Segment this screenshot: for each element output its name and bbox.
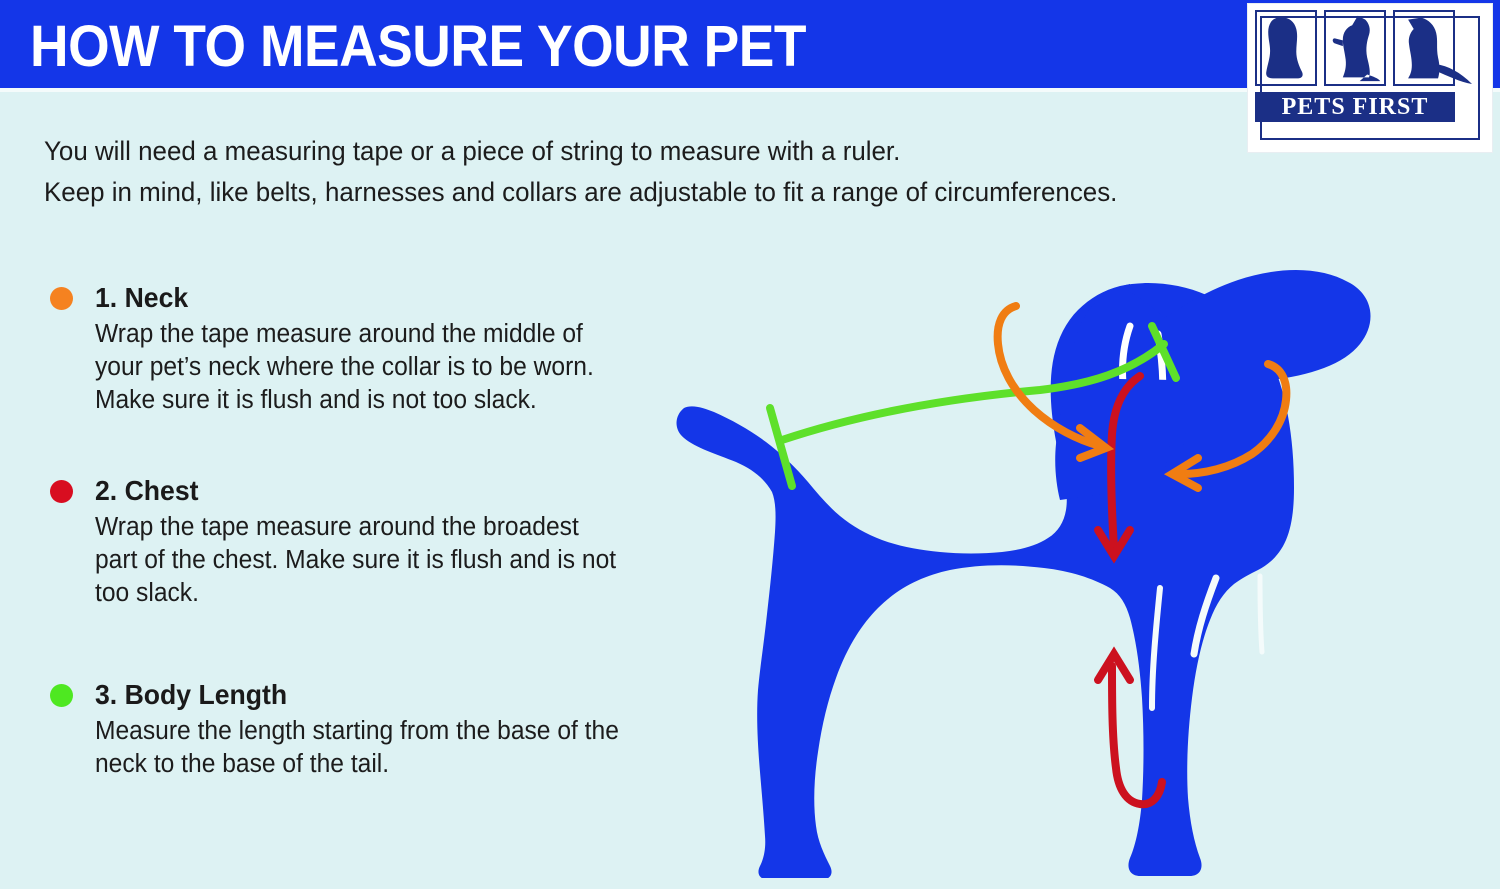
dog-diagram-svg (660, 248, 1490, 878)
step-bullet-chest (50, 480, 73, 503)
infographic-page: HOW TO MEASURE YOUR PET PETS FIRST You (0, 0, 1500, 889)
dog-standing-silhouette-icon (1393, 10, 1455, 86)
page-title: HOW TO MEASURE YOUR PET (30, 16, 806, 78)
step-body-line: your pet’s neck where the collar is to b… (95, 351, 655, 384)
step-body-body-length: Measure the length starting from the bas… (95, 715, 655, 781)
step-body-line: part of the chest. Make sure it is flush… (95, 544, 655, 577)
step-body-line: too slack. (95, 577, 655, 610)
step-body-line: neck to the base of the tail. (95, 748, 655, 781)
brand-logo: PETS FIRST (1248, 4, 1492, 152)
step-body-line: Measure the length starting from the bas… (95, 715, 655, 748)
dog-measurement-diagram: BODY LENGTH NECK CHEST (660, 248, 1490, 878)
step-heading-body-length: 3. Body Length (95, 679, 287, 711)
step-body-line: Wrap the tape measure around the broades… (95, 511, 655, 544)
step-body-neck: Wrap the tape measure around the middle … (95, 318, 655, 417)
dog-begging-silhouette-icon (1324, 10, 1386, 86)
intro-text: You will need a measuring tape or a piec… (44, 131, 1282, 213)
logo-wordmark-bar: PETS FIRST (1255, 92, 1455, 122)
step-bullet-neck (50, 287, 73, 310)
step-heading-chest: 2. Chest (95, 475, 198, 507)
intro-line-1: You will need a measuring tape or a piec… (44, 131, 1282, 172)
step-body-line: Wrap the tape measure around the middle … (95, 318, 655, 351)
step-bullet-body-length (50, 684, 73, 707)
step-body-line: Make sure it is flush and is not too sla… (95, 384, 655, 417)
logo-wordmark: PETS FIRST (1255, 92, 1455, 122)
dog-sitting-silhouette-icon (1255, 10, 1317, 86)
step-body-chest: Wrap the tape measure around the broades… (95, 511, 655, 610)
intro-line-2: Keep in mind, like belts, harnesses and … (44, 172, 1282, 213)
step-heading-neck: 1. Neck (95, 282, 188, 314)
